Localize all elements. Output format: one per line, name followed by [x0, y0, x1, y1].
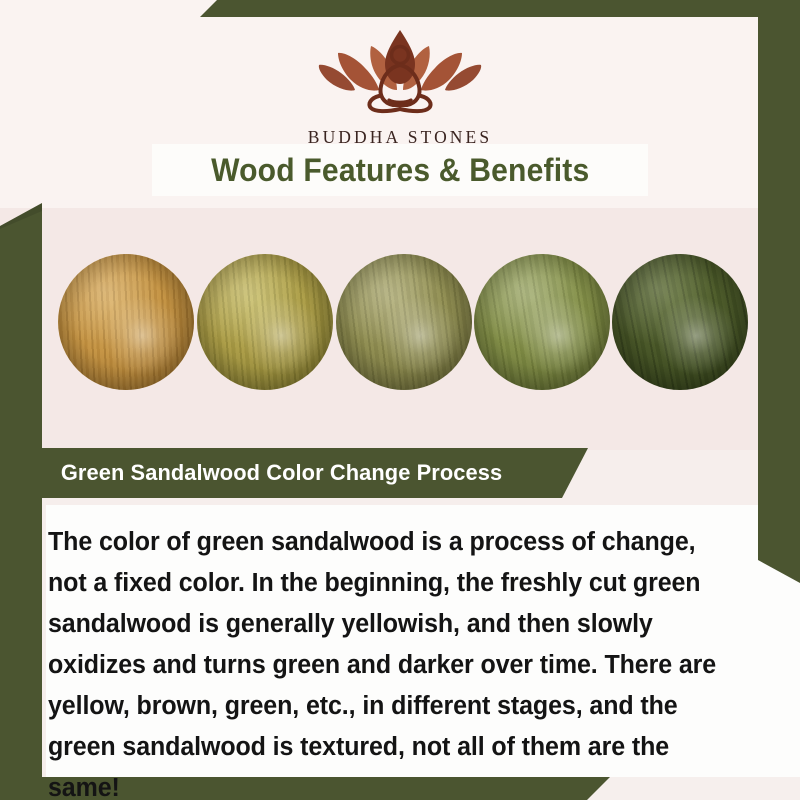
- frame-top-bar: [200, 0, 800, 17]
- bead-sheen: [58, 254, 194, 390]
- brand-logo: BUDDHA STONES: [0, 24, 800, 148]
- bead-sheen: [474, 254, 610, 390]
- body-paragraph: The color of green sandalwood is a proce…: [48, 522, 734, 800]
- section-title: Green Sandalwood Color Change Process: [61, 460, 502, 486]
- bead-color-stage-row: [0, 254, 800, 396]
- bead-stage-2: [197, 254, 333, 390]
- headline-banner: Wood Features & Benefits: [152, 144, 648, 196]
- bead-stage-1: [58, 254, 194, 390]
- bead-stage-4: [474, 254, 610, 390]
- poster-root: BUDDHA STONES Wood Features & Benefits: [0, 0, 800, 800]
- bead-stage-5: [612, 254, 748, 390]
- bead-sheen: [197, 254, 333, 390]
- section-banner: Green Sandalwood Color Change Process: [28, 448, 588, 498]
- bead-sheen: [336, 254, 472, 390]
- page-title: Wood Features & Benefits: [211, 152, 589, 189]
- bead-stage-3: [336, 254, 472, 390]
- bead-sheen: [612, 254, 748, 390]
- lotus-meditation-figure-icon: [307, 24, 493, 116]
